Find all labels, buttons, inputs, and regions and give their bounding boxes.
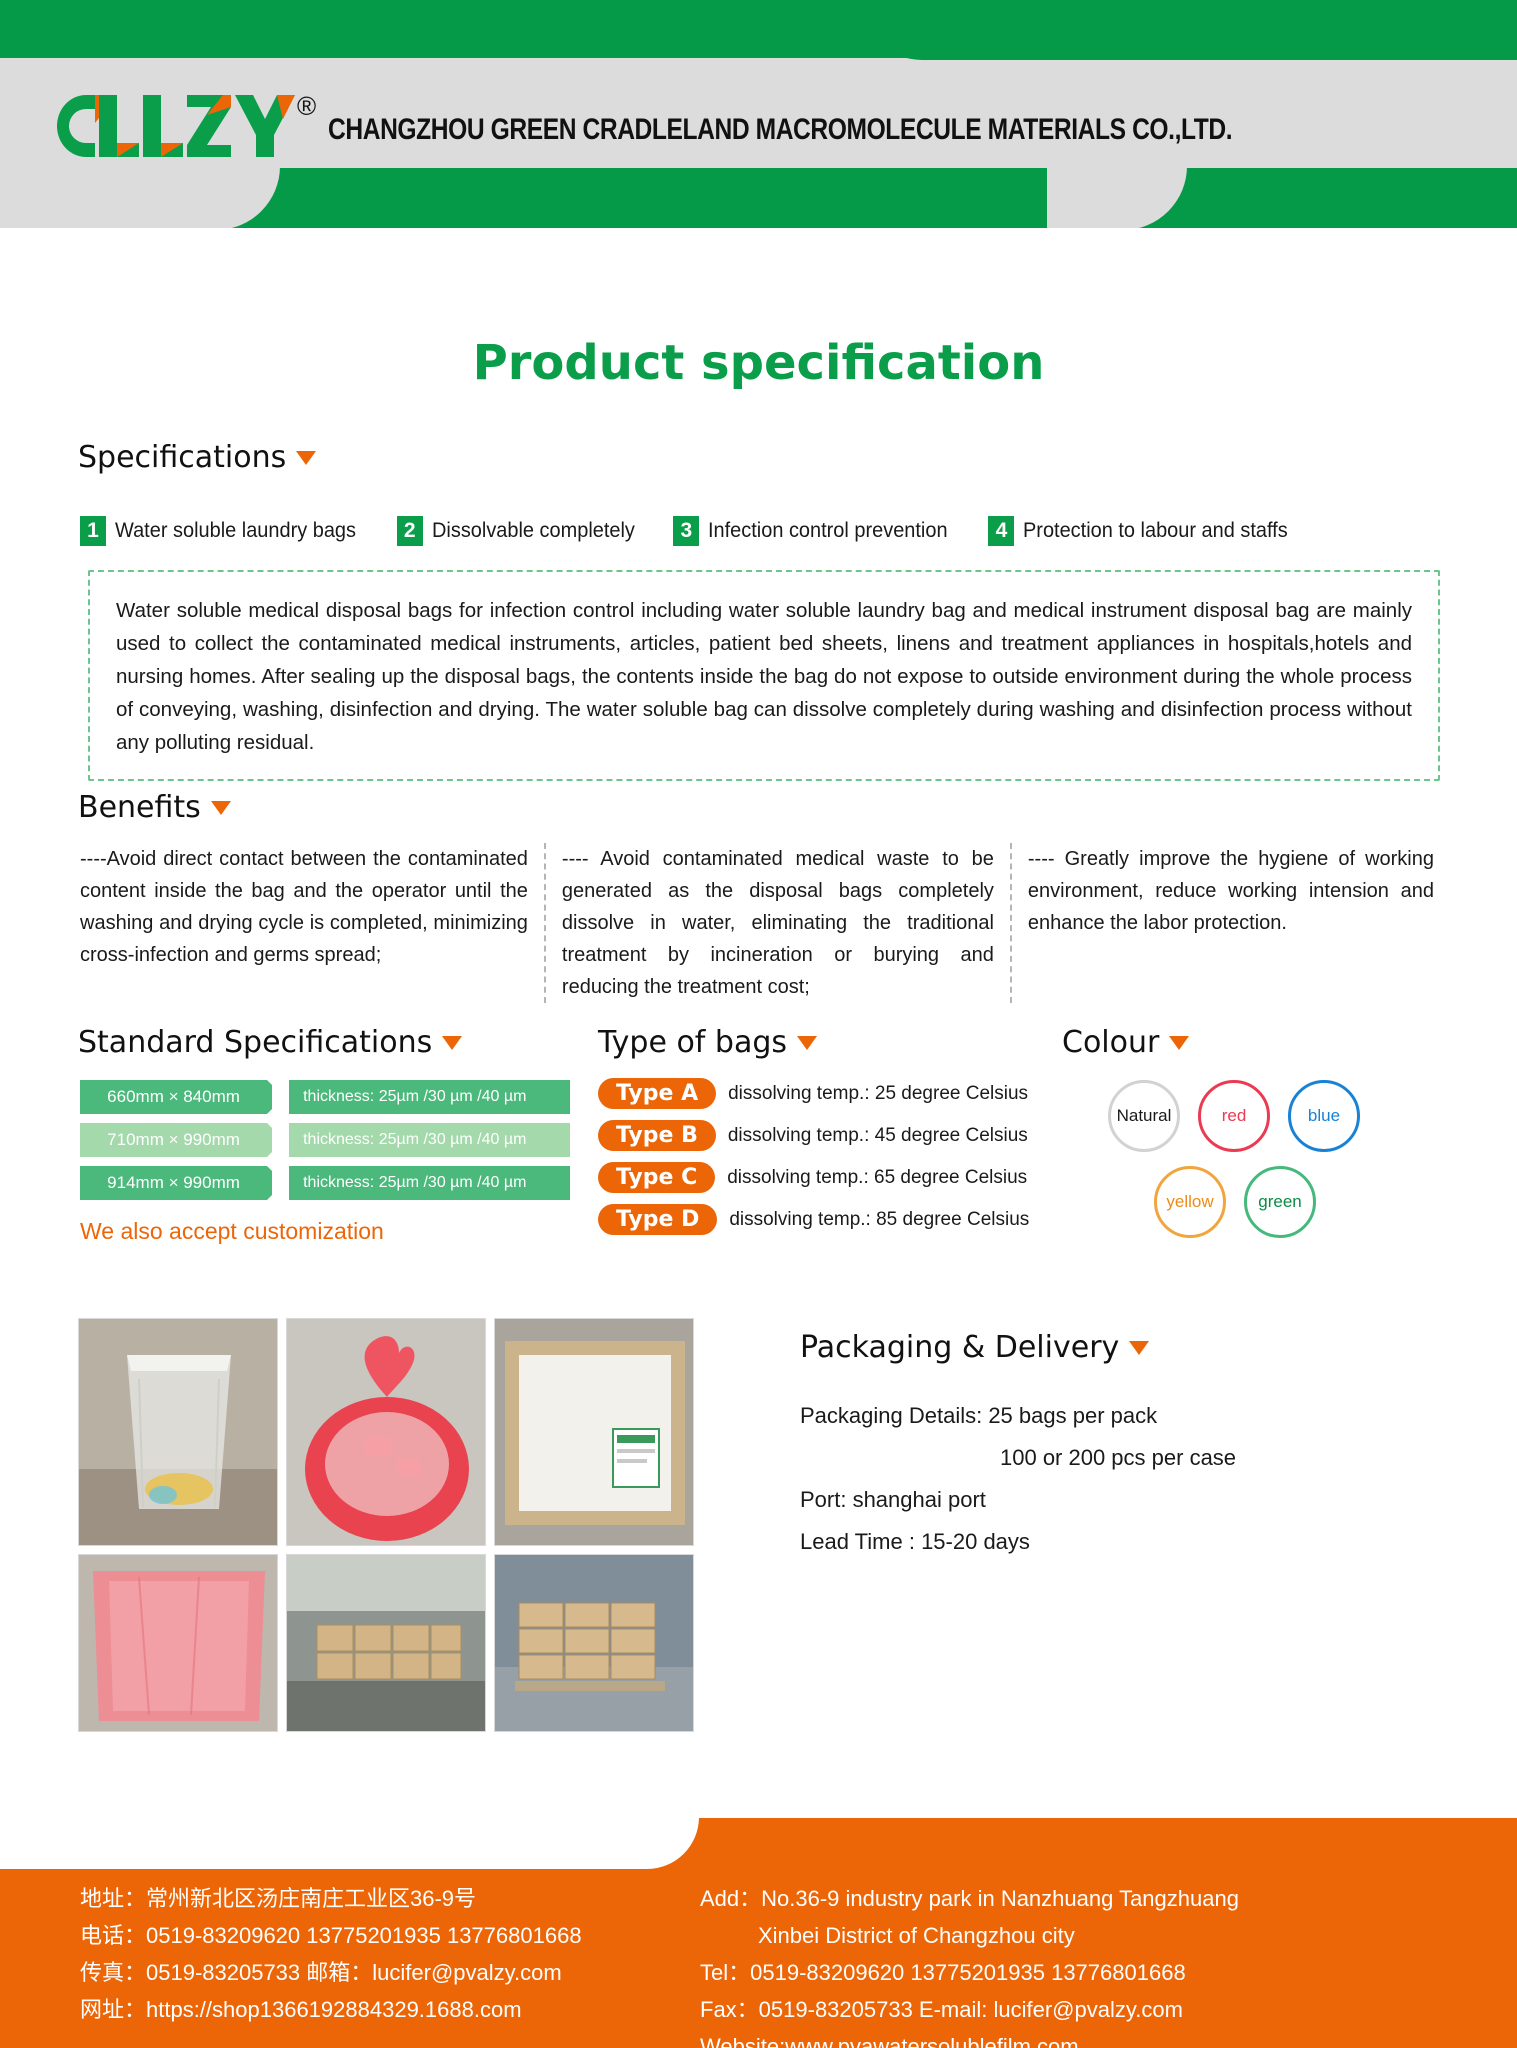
- item-number-badge: 3: [673, 516, 699, 546]
- item-label: Protection to labour and staffs: [1023, 519, 1288, 543]
- item-number-badge: 1: [80, 516, 106, 546]
- standard-specifications-table: 660mm × 840mm thickness: 25µm /30 µm /40…: [80, 1080, 570, 1209]
- benefit-column: ----Avoid direct contact between the con…: [80, 843, 546, 1003]
- footer-english-contact: Add：No.36-9 industry park in Nanzhuang T…: [700, 1880, 1500, 2048]
- triangle-down-icon: [296, 451, 316, 465]
- size-cell: 710mm × 990mm: [80, 1123, 267, 1157]
- specification-item: 4 Protection to labour and staffs: [988, 516, 1302, 546]
- page-footer: 地址：常州新北区汤庄南庄工业区36-9号 电话：0519-83209620 13…: [0, 1818, 1517, 2048]
- footer-white-notch: [0, 1818, 699, 1869]
- cartons-in-container-photo: [286, 1554, 486, 1732]
- colour-row-top: Natural red blue: [1108, 1080, 1408, 1152]
- footer-website-en[interactable]: Website:www.pvawatersolublefilm.com: [700, 2028, 1500, 2048]
- dissolving-temp-label: dissolving temp.: 25 degree Celsius: [728, 1083, 1028, 1105]
- type-badge: Type C: [598, 1162, 715, 1193]
- dissolving-temp-label: dissolving temp.: 85 degree Celsius: [729, 1209, 1029, 1231]
- dissolving-temp-label: dissolving temp.: 45 degree Celsius: [728, 1125, 1028, 1147]
- footer-tel-cn: 电话：0519-83209620 13775201935 13776801668: [80, 1917, 700, 1954]
- thickness-cell: thickness: 25µm /30 µm /40 µm: [289, 1166, 570, 1200]
- benefit-column: ---- Avoid contaminated medical waste to…: [546, 843, 1012, 1003]
- type-of-bags-heading: Type of bags: [598, 1025, 817, 1060]
- triangle-down-icon: [211, 801, 231, 815]
- footer-fax-email-en: Fax：0519-83205733 E-mail: lucifer@pvalzy…: [700, 1991, 1500, 2028]
- benefits-heading-label: Benefits: [78, 790, 201, 825]
- colour-swatch-green: green: [1244, 1166, 1316, 1238]
- benefits-heading: Benefits: [78, 790, 231, 825]
- photo-row-top: [78, 1318, 753, 1546]
- header-green-bar-bottom: [160, 168, 1517, 228]
- specification-item: 2 Dissolvable completely: [397, 516, 646, 546]
- packaging-port-line: Port: shanghai port: [800, 1479, 1236, 1521]
- item-label: Water soluble laundry bags: [115, 519, 356, 543]
- footer-address-en: Add：No.36-9 industry park in Nanzhuang T…: [700, 1880, 1500, 1917]
- standard-specifications-heading: Standard Specifications: [78, 1025, 462, 1060]
- header-gray-notch-bottom-left: [0, 166, 228, 228]
- list-item: Type B dissolving temp.: 45 degree Celsi…: [598, 1120, 1029, 1151]
- colour-row-bottom: yellow green: [1154, 1166, 1408, 1238]
- type-of-bags-list: Type A dissolving temp.: 25 degree Celsi…: [598, 1078, 1029, 1246]
- flat-red-bag-photo: [78, 1554, 278, 1732]
- product-description-box: Water soluble medical disposal bags for …: [88, 570, 1440, 781]
- clear-bag-in-bin-photo: [78, 1318, 278, 1546]
- item-label: Dissolvable completely: [432, 519, 635, 543]
- footer-website-cn[interactable]: 网址：https://shop1366192884329.1688.com: [80, 1991, 700, 2028]
- company-name-text: CHANGZHOU GREEN CRADLELAND MACROMOLECULE…: [328, 113, 1232, 147]
- colour-swatch-blue: blue: [1288, 1080, 1360, 1152]
- colour-heading-label: Colour: [1062, 1025, 1159, 1060]
- specification-item: 3 Infection control prevention: [673, 516, 960, 546]
- colour-swatch-red: red: [1198, 1080, 1270, 1152]
- open-carton-of-bags-photo: [494, 1318, 694, 1546]
- triangle-down-icon: [1129, 1341, 1149, 1355]
- footer-columns: 地址：常州新北区汤庄南庄工业区36-9号 电话：0519-83209620 13…: [0, 1880, 1517, 2048]
- table-row: 710mm × 990mm thickness: 25µm /30 µm /40…: [80, 1123, 570, 1157]
- product-specification-page: ® CHANGZHOU GREEN CRADLELAND MACROMOLECU…: [0, 0, 1517, 2048]
- triangle-down-icon: [797, 1036, 817, 1050]
- triangle-down-icon: [1169, 1036, 1189, 1050]
- thickness-cell: thickness: 25µm /30 µm /40 µm: [289, 1123, 570, 1157]
- specifications-item-list: 1 Water soluble laundry bags 2 Dissolvab…: [80, 516, 1440, 546]
- type-badge: Type D: [598, 1204, 717, 1235]
- packaging-case-line: 100 or 200 pcs per case: [800, 1437, 1236, 1479]
- table-row: 914mm × 990mm thickness: 25µm /30 µm /40…: [80, 1166, 570, 1200]
- size-cell: 914mm × 990mm: [80, 1166, 267, 1200]
- thickness-cell: thickness: 25µm /30 µm /40 µm: [289, 1080, 570, 1114]
- item-number-badge: 4: [988, 516, 1014, 546]
- item-label: Infection control prevention: [708, 519, 948, 543]
- list-item: Type D dissolving temp.: 85 degree Celsi…: [598, 1204, 1029, 1235]
- dissolving-temp-label: dissolving temp.: 65 degree Celsius: [727, 1167, 1027, 1189]
- packaging-lead-time-line: Lead Time : 15-20 days: [800, 1521, 1236, 1563]
- product-photo-gallery: [78, 1318, 753, 1740]
- specifications-heading-label: Specifications: [78, 440, 286, 475]
- page-title: Product specification: [0, 335, 1517, 391]
- photo-row-bottom: [78, 1554, 753, 1732]
- list-item: Type A dissolving temp.: 25 degree Celsi…: [598, 1078, 1029, 1109]
- packaging-details-list: Packaging Details: 25 bags per pack 100 …: [800, 1395, 1236, 1563]
- pallet-of-cartons-photo: [494, 1554, 694, 1732]
- header-green-bar-top-right: [999, 0, 1517, 60]
- colour-heading: Colour: [1062, 1025, 1189, 1060]
- page-header: ® CHANGZHOU GREEN CRADLELAND MACROMOLECU…: [0, 0, 1517, 228]
- footer-chinese-contact: 地址：常州新北区汤庄南庄工业区36-9号 电话：0519-83209620 13…: [0, 1880, 700, 2048]
- footer-tel-en: Tel：0519-83209620 13775201935 1377680166…: [700, 1954, 1500, 1991]
- standard-specifications-heading-label: Standard Specifications: [78, 1025, 432, 1060]
- item-number-badge: 2: [397, 516, 423, 546]
- specifications-heading: Specifications: [78, 440, 316, 475]
- triangle-down-icon: [442, 1036, 462, 1050]
- customization-note: We also accept customization: [80, 1218, 384, 1245]
- red-bag-with-laundry-photo: [286, 1318, 486, 1546]
- packaging-delivery-heading: Packaging & Delivery: [800, 1330, 1149, 1365]
- packaging-delivery-heading-label: Packaging & Delivery: [800, 1330, 1119, 1365]
- packaging-details-line: Packaging Details: 25 bags per pack: [800, 1395, 1236, 1437]
- colour-swatch-yellow: yellow: [1154, 1166, 1226, 1238]
- table-row: 660mm × 840mm thickness: 25µm /30 µm /40…: [80, 1080, 570, 1114]
- footer-address-en-2: Xinbei District of Changzhou city: [700, 1917, 1500, 1954]
- specification-item: 1 Water soluble laundry bags: [80, 516, 369, 546]
- type-badge: Type B: [598, 1120, 716, 1151]
- colour-swatch-group: Natural red blue yellow green: [1108, 1080, 1408, 1238]
- footer-address-cn: 地址：常州新北区汤庄南庄工业区36-9号: [80, 1880, 700, 1917]
- cllzy-logo-mark: [55, 95, 295, 157]
- list-item: Type C dissolving temp.: 65 degree Celsi…: [598, 1162, 1029, 1193]
- footer-fax-email-cn: 传真：0519-83205733 邮箱：lucifer@pvalzy.com: [80, 1954, 700, 1991]
- registered-trademark-icon: ®: [297, 91, 316, 122]
- size-cell: 660mm × 840mm: [80, 1080, 267, 1114]
- type-of-bags-heading-label: Type of bags: [598, 1025, 787, 1060]
- type-badge: Type A: [598, 1078, 716, 1109]
- colour-swatch-natural: Natural: [1108, 1080, 1180, 1152]
- header-green-bar-top-left: [0, 0, 923, 58]
- product-description-text: Water soluble medical disposal bags for …: [116, 594, 1412, 759]
- benefit-column: ---- Greatly improve the hygiene of work…: [1012, 843, 1450, 1003]
- benefits-columns: ----Avoid direct contact between the con…: [80, 843, 1450, 1003]
- company-logo: ® CHANGZHOU GREEN CRADLELAND MACROMOLECU…: [55, 95, 1431, 157]
